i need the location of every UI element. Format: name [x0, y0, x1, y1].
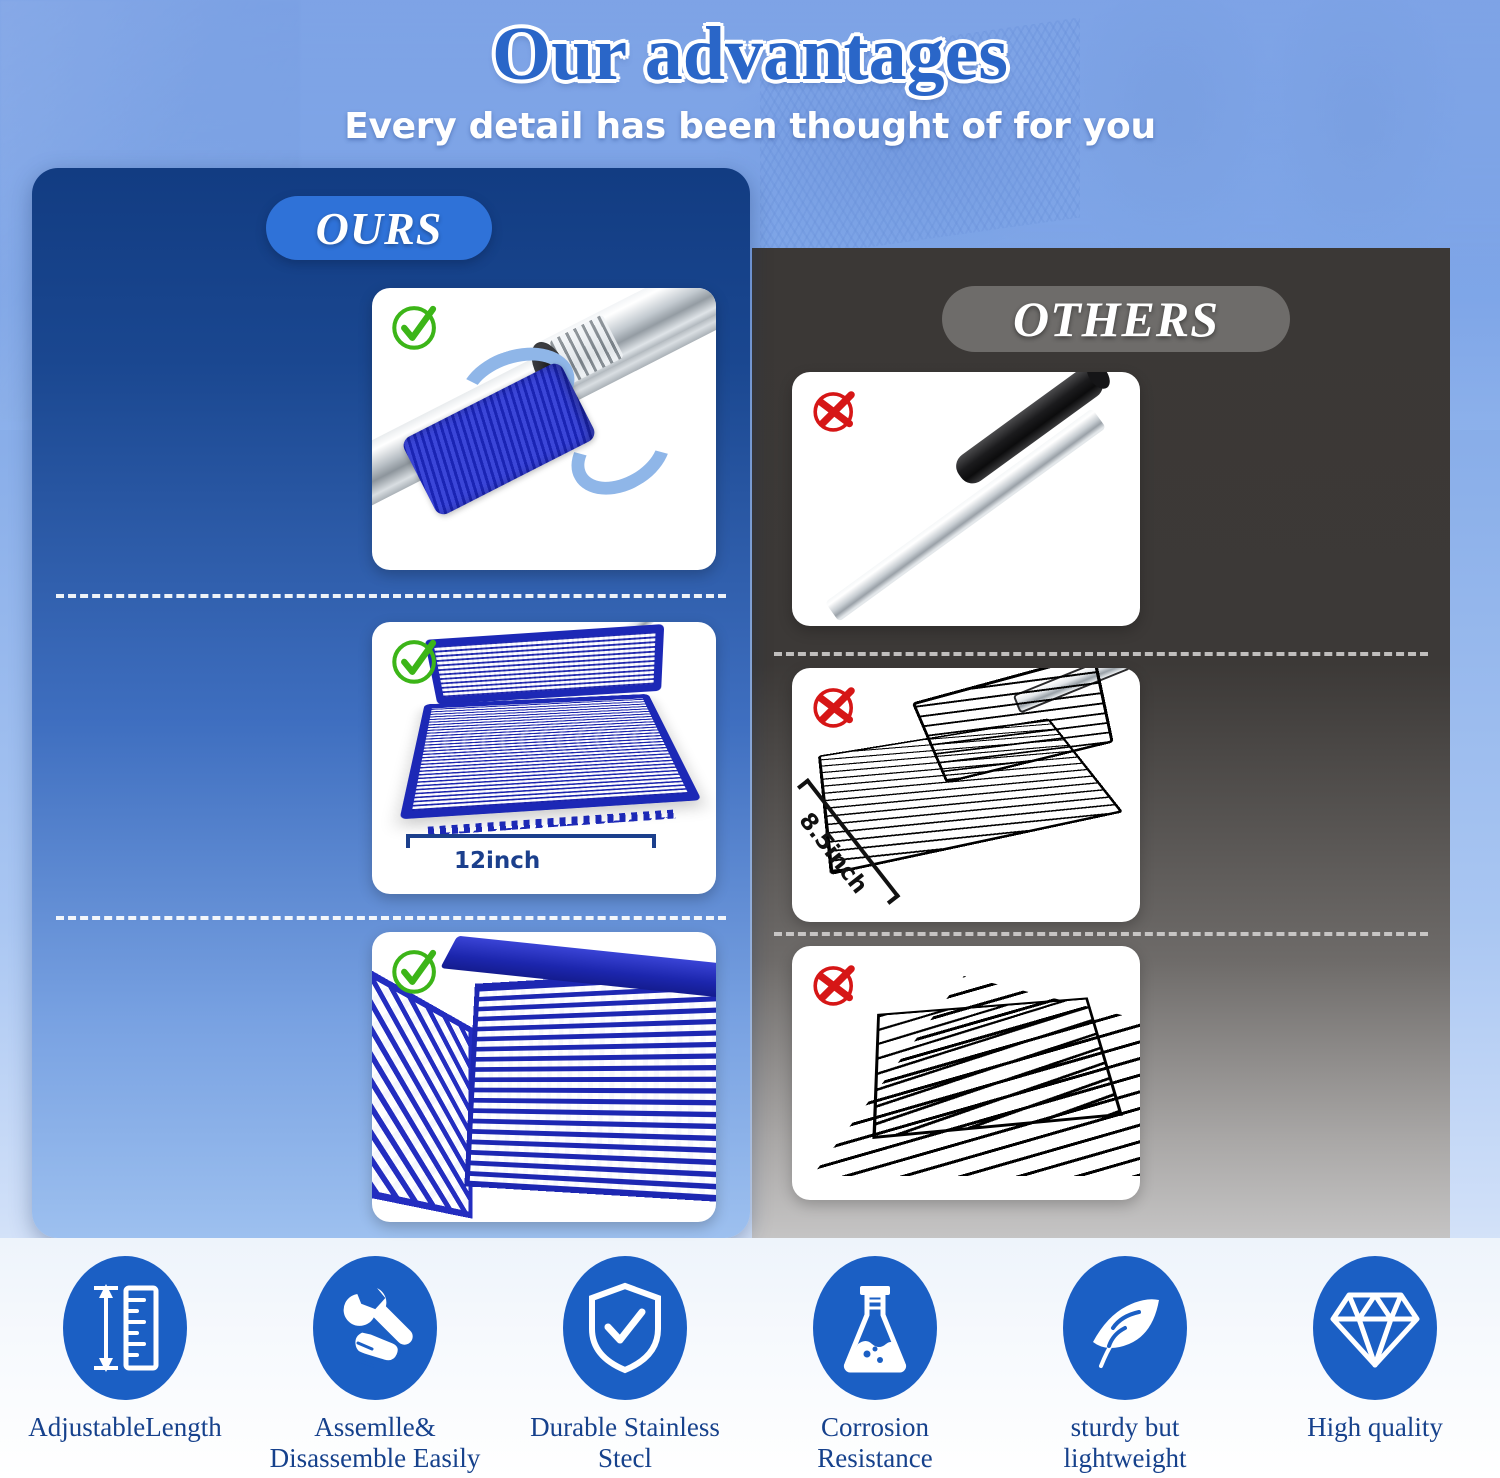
- advantages-infographic: Our advantages Every detail has been tho…: [0, 0, 1500, 1478]
- feature-item-assemble-disassemble: Assemlle& Disassemble Easily: [250, 1238, 500, 1478]
- red-cross-circle-icon: [808, 680, 862, 734]
- feature-item-high-quality: High quality: [1250, 1238, 1500, 1478]
- feather-icon: [1081, 1284, 1169, 1372]
- feature-label: Assemlle& Disassemble Easily: [270, 1412, 481, 1475]
- icon-badge: [1063, 1256, 1187, 1400]
- ours-dimension-caption: 12inch: [454, 848, 540, 874]
- green-check-circle-icon: [388, 300, 442, 354]
- icon-badge: [63, 1256, 187, 1400]
- page-subtitle: Every detail has been thought of for you: [0, 106, 1500, 147]
- icon-badge: [813, 1256, 937, 1400]
- ours-card-2: 12inch: [372, 622, 716, 894]
- feature-label: High quality: [1307, 1412, 1443, 1443]
- feature-label: Durable Stainless Stecl: [530, 1412, 720, 1475]
- red-cross-circle-icon: [808, 384, 862, 438]
- feature-item-sturdy-lightweight: sturdy but lightweight: [1000, 1238, 1250, 1478]
- feature-item-corrosion-resistance: Corrosion Resistance: [750, 1238, 1000, 1478]
- ours-divider-1: [56, 594, 726, 598]
- feature-label: Corrosion Resistance: [817, 1412, 932, 1475]
- feature-label: sturdy but lightweight: [1064, 1412, 1187, 1475]
- feature-icon-strip: AdjustableLength Assemlle& Disassemble E…: [0, 1238, 1500, 1478]
- wrench-hand-icon: [332, 1281, 418, 1375]
- others-divider-2: [774, 932, 1428, 936]
- red-cross-circle-icon: [808, 958, 862, 1012]
- others-badge: OTHERS: [942, 286, 1290, 352]
- header: Our advantages Every detail has been tho…: [0, 0, 1500, 147]
- flask-icon: [836, 1281, 914, 1375]
- ours-divider-2: [56, 916, 726, 920]
- page-title: Our advantages: [0, 0, 1500, 92]
- green-check-circle-icon: [388, 634, 442, 688]
- ours-card-3: [372, 932, 716, 1222]
- others-card-3: [792, 946, 1140, 1200]
- icon-badge: [1313, 1256, 1437, 1400]
- feature-label: AdjustableLength: [28, 1412, 221, 1443]
- icon-badge: [563, 1256, 687, 1400]
- ours-card-1: [372, 288, 716, 570]
- others-divider-1: [774, 652, 1428, 656]
- diamond-icon: [1329, 1285, 1421, 1371]
- dimension-bracket: [406, 834, 656, 848]
- others-card-2: 8.5inch: [792, 668, 1140, 922]
- icon-badge: [313, 1256, 437, 1400]
- ours-badge: OURS: [266, 196, 492, 260]
- green-check-circle-icon: [388, 944, 442, 998]
- ruler-icon: [86, 1282, 164, 1374]
- shield-check-icon: [584, 1281, 666, 1375]
- feature-item-adjustable-length: AdjustableLength: [0, 1238, 250, 1478]
- others-card-1: [792, 372, 1140, 626]
- feature-item-durable-stainless-steel: Durable Stainless Stecl: [500, 1238, 750, 1478]
